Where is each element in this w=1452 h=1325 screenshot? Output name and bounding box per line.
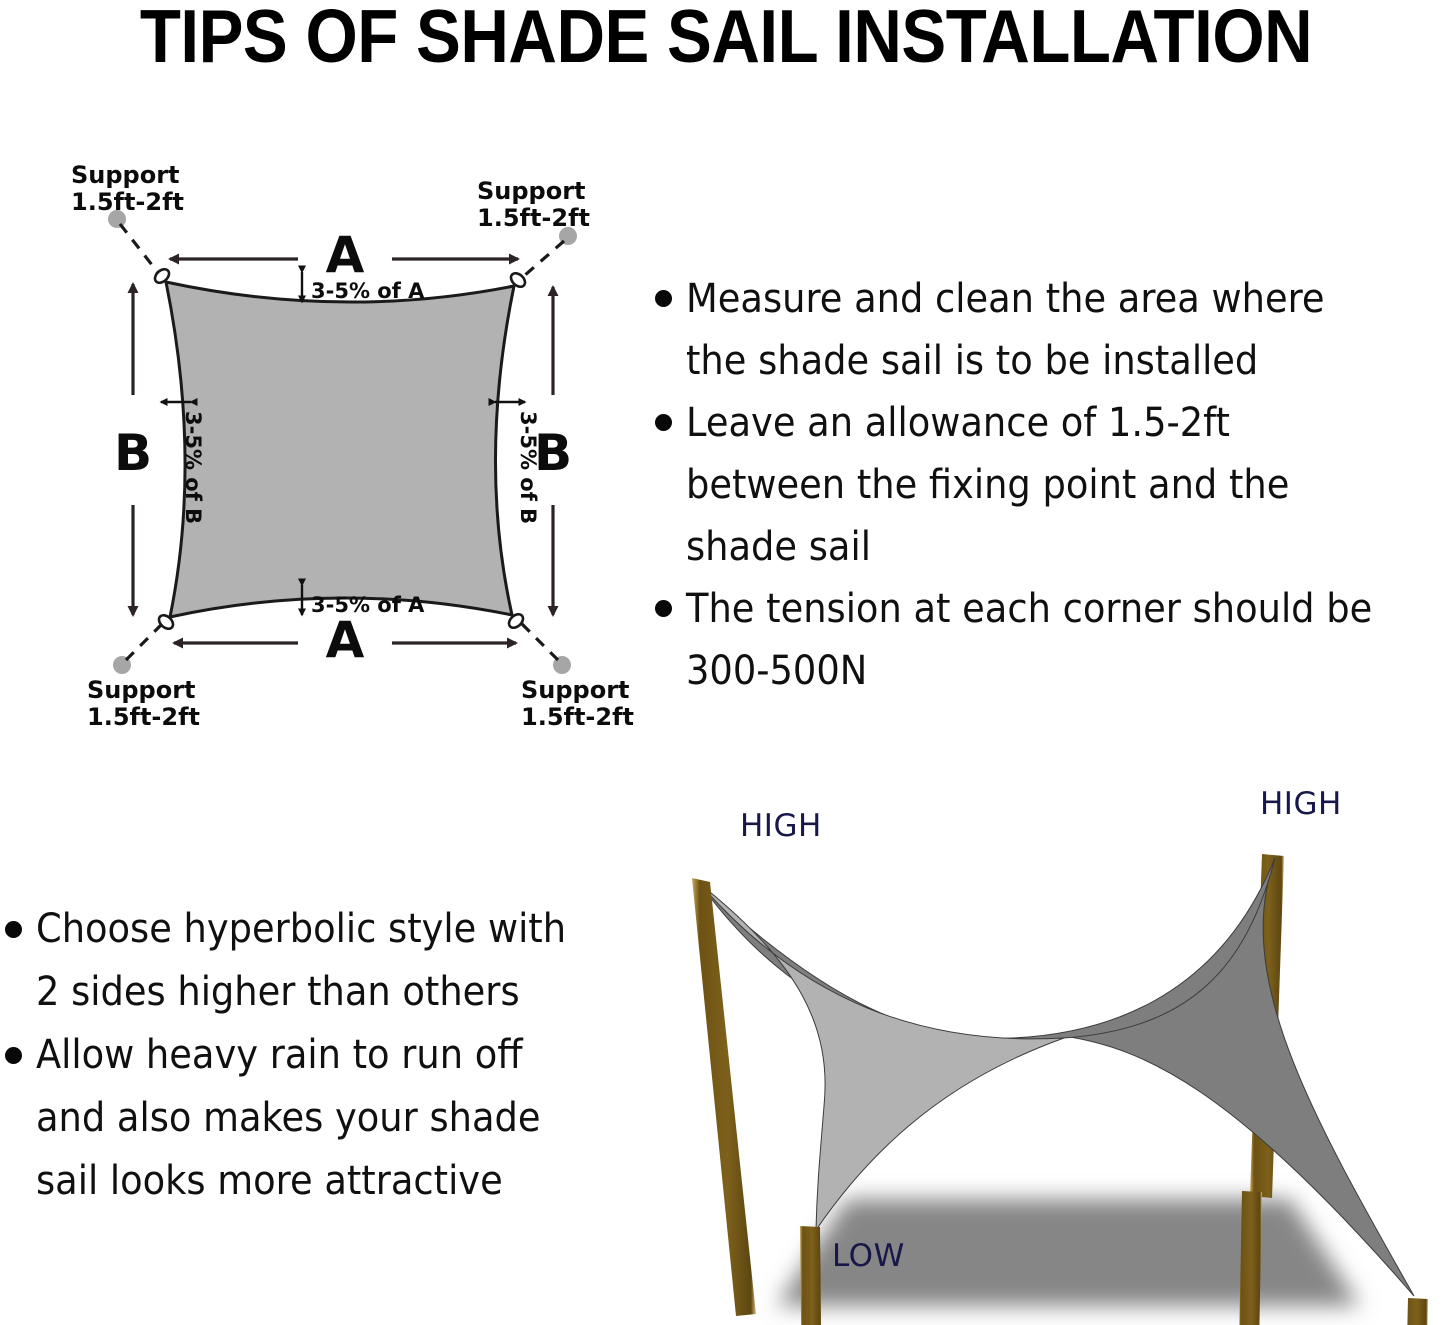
list-item: Allow heavy rain to run off and also mak… [5, 1024, 625, 1213]
page-title: TIPS OF SHADE SAIL INSTALLATION [29, 0, 1423, 74]
list-item: Choose hyperbolic style with 2 sides hig… [5, 898, 625, 1024]
support-label-top-left: Support 1.5ft-2ft [71, 161, 184, 216]
support-tr-line1: Support [477, 177, 586, 205]
support-br-line2: 1.5ft-2ft [521, 703, 634, 731]
label-sag-left: 3-5% of B [181, 411, 205, 524]
label-a-bottom: A [326, 611, 365, 669]
support-bl-line2: 1.5ft-2ft [87, 703, 200, 731]
label-sag-bottom: 3-5% of A [311, 593, 425, 617]
tip-text: Allow heavy rain to run off and also mak… [36, 1024, 578, 1213]
support-br-line1: Support [521, 676, 630, 704]
label-a-top: A [326, 226, 365, 284]
label-low-left: LOW [832, 1238, 905, 1274]
list-item: Leave an allowance of 1.5-2ft between th… [655, 392, 1452, 578]
list-item: The tension at each corner should be 300… [655, 578, 1452, 702]
shade-sail-shape [166, 282, 514, 617]
hyperbolic-sail-illustration: HIGH HIGH LOW LOW [672, 786, 1452, 1325]
dimension-a-bottom: A [174, 611, 516, 669]
support-tl-line1: Support [71, 161, 180, 189]
label-b-left: B [114, 424, 152, 482]
tip-text: Leave an allowance of 1.5-2ft between th… [686, 392, 1393, 578]
tips-list-left: Choose hyperbolic style with 2 sides hig… [5, 898, 625, 1213]
bullet-dot-icon [655, 290, 672, 307]
dimension-a-top: A [170, 226, 518, 284]
label-sag-top: 3-5% of A [311, 279, 425, 303]
support-tl-line2: 1.5ft-2ft [71, 188, 184, 216]
support-label-bottom-right: Support 1.5ft-2ft [521, 676, 634, 731]
support-tr-line2: 1.5ft-2ft [477, 204, 590, 232]
tip-text: Choose hyperbolic style with 2 sides hig… [36, 898, 578, 1024]
support-label-top-right: Support 1.5ft-2ft [477, 177, 590, 232]
tip-text: The tension at each corner should be 300… [686, 578, 1393, 702]
bullet-dot-icon [655, 600, 672, 617]
sag-callout-right: 3-5% of B [495, 402, 540, 524]
list-item: Measure and clean the area where the sha… [655, 268, 1452, 392]
post-high-left [692, 878, 756, 1316]
square-sail-diagram: A 3-5% of A A 3-5% of A B 3-5% of B [40, 160, 660, 740]
bullet-dot-icon [655, 414, 672, 431]
post-low-right [1404, 1298, 1428, 1325]
support-bl-line1: Support [87, 676, 196, 704]
label-high-left: HIGH [740, 808, 822, 844]
sail-surface-front [700, 884, 1064, 1230]
label-sag-right: 3-5% of B [516, 411, 540, 524]
tip-text: Measure and clean the area where the sha… [686, 268, 1393, 392]
sag-callout-left: 3-5% of B [161, 402, 205, 524]
bullet-dot-icon [5, 921, 22, 938]
label-high-right: HIGH [1260, 786, 1342, 822]
bullet-dot-icon [5, 1047, 22, 1064]
tips-list-right: Measure and clean the area where the sha… [655, 268, 1452, 702]
support-label-bottom-left: Support 1.5ft-2ft [87, 676, 200, 731]
post-low-left [800, 1226, 822, 1325]
dimension-b-left: B [114, 284, 152, 615]
